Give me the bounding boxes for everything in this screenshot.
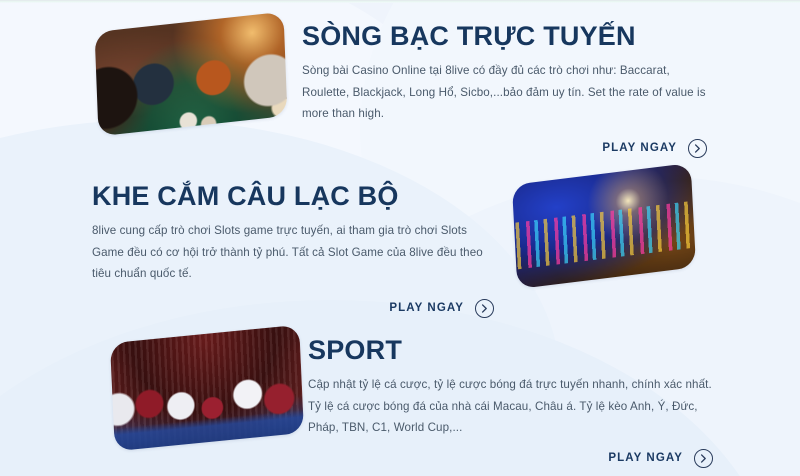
section-casino-cta-row: PLAY NGAY: [302, 139, 707, 158]
football-match-players-photo: [110, 325, 304, 452]
section-casino: SÒNG BẠC TRỰC TUYẾN Sòng bài Casino Onli…: [0, 8, 800, 158]
promo-sections-container: SÒNG BẠC TRỰC TUYẾN Sòng bài Casino Onli…: [0, 0, 800, 476]
section-casino-heading: SÒNG BẠC TRỰC TUYẾN: [302, 22, 707, 50]
casino-table-players-photo: [95, 12, 288, 137]
play-ngay-button-slots[interactable]: PLAY NGAY: [389, 299, 494, 318]
section-sport-text: SPORT Cập nhật tỷ lệ cá cược, tỷ lệ cược…: [308, 318, 713, 468]
play-ngay-button-casino[interactable]: PLAY NGAY: [602, 139, 707, 158]
casino-photo-art: [95, 12, 288, 137]
section-casino-body: Sòng bài Casino Online tại 8live có đầy …: [302, 60, 707, 124]
section-slots-media: [514, 174, 694, 278]
chevron-right-circle-icon: [475, 299, 494, 318]
section-sport-body: Cập nhật tỷ lệ cá cược, tỷ lệ cược bóng …: [308, 374, 713, 438]
chevron-right-circle-icon: [688, 139, 707, 158]
slots-photo-art: [512, 163, 696, 289]
section-casino-media: [96, 22, 286, 126]
section-sport-heading: SPORT: [308, 336, 713, 364]
section-casino-text: SÒNG BẠC TRỰC TUYẾN Sòng bài Casino Onli…: [302, 8, 707, 158]
play-ngay-button-sport[interactable]: PLAY NGAY: [608, 449, 713, 468]
section-slots-text: KHE CẮM CÂU LẠC BỘ 8live cung cấp trò ch…: [92, 160, 500, 318]
section-sport-media: [112, 334, 302, 442]
section-sport: SPORT Cập nhật tỷ lệ cá cược, tỷ lệ cược…: [0, 318, 800, 468]
slot-machines-hall-photo: [512, 163, 696, 289]
section-slots-heading: KHE CẮM CÂU LẠC BỘ: [92, 182, 500, 210]
play-ngay-label: PLAY NGAY: [602, 142, 677, 154]
section-slots: KHE CẮM CÂU LẠC BỘ 8live cung cấp trò ch…: [0, 160, 800, 318]
chevron-right-circle-icon: [694, 449, 713, 468]
section-sport-cta-row: PLAY NGAY: [308, 449, 713, 468]
section-slots-body: 8live cung cấp trò chơi Slots game trực …: [92, 220, 500, 284]
section-slots-cta-row: PLAY NGAY: [92, 299, 500, 318]
play-ngay-label: PLAY NGAY: [608, 452, 683, 464]
play-ngay-label: PLAY NGAY: [389, 302, 464, 314]
sport-photo-art: [110, 325, 304, 452]
